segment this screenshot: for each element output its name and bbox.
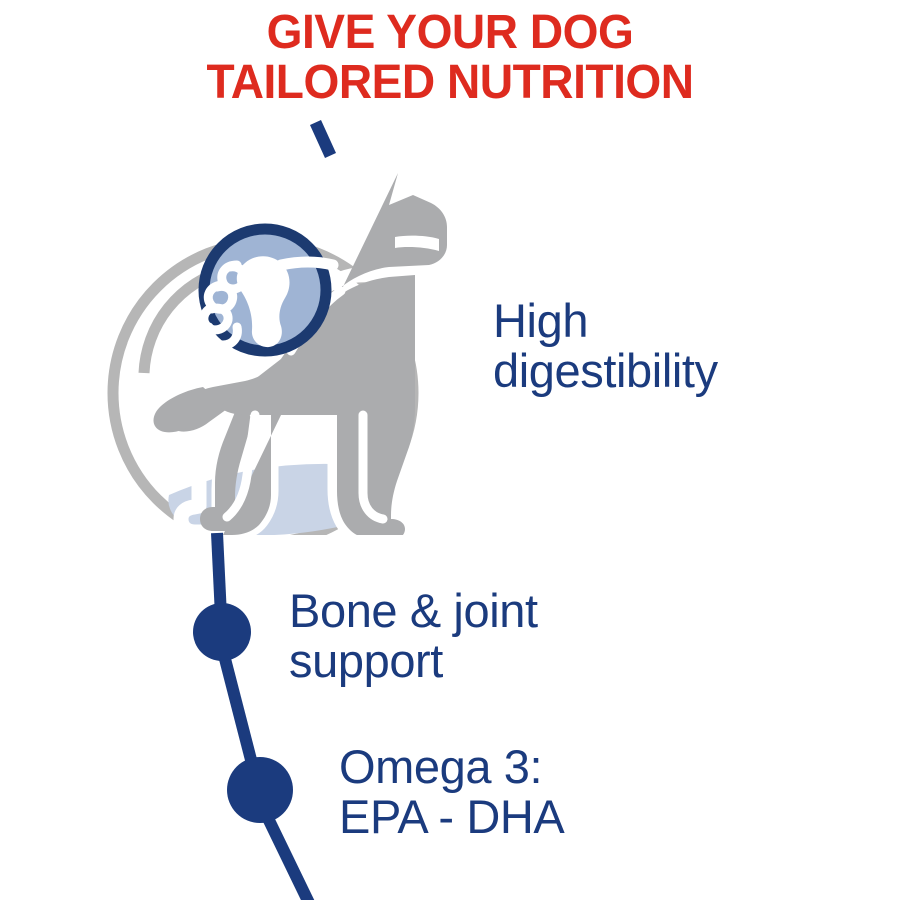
page-title: GIVE YOUR DOG TAILORED NUTRITION — [18, 8, 882, 108]
benefit-label-omega-3: Omega 3: EPA - DHA — [339, 742, 564, 842]
dog-digestive-system-illustration — [95, 115, 455, 535]
connector-segment-3 — [264, 810, 310, 900]
page-title-line-1: GIVE YOUR DOG — [18, 8, 882, 58]
benefit-1-line-2: digestibility — [493, 346, 718, 396]
benefit-label-high-digestibility: High digestibility — [493, 296, 718, 396]
digestive-system-highlight-circle — [204, 229, 333, 351]
benefit-3-line-1: Omega 3: — [339, 742, 564, 792]
benefit-1-line-1: High — [493, 296, 718, 346]
benefit-2-line-1: Bone & joint — [289, 586, 538, 636]
benefit-2-line-2: support — [289, 636, 538, 686]
connector-node-bone-joint — [193, 603, 251, 661]
benefit-label-bone-joint-support: Bone & joint support — [289, 586, 538, 686]
connector-top-dash — [310, 120, 336, 158]
benefit-3-line-2: EPA - DHA — [339, 792, 564, 842]
connector-node-omega-3 — [227, 757, 293, 823]
infographic-canvas: GIVE YOUR DOG TAILORED NUTRITION — [0, 0, 900, 900]
page-title-line-2: TAILORED NUTRITION — [18, 58, 882, 108]
